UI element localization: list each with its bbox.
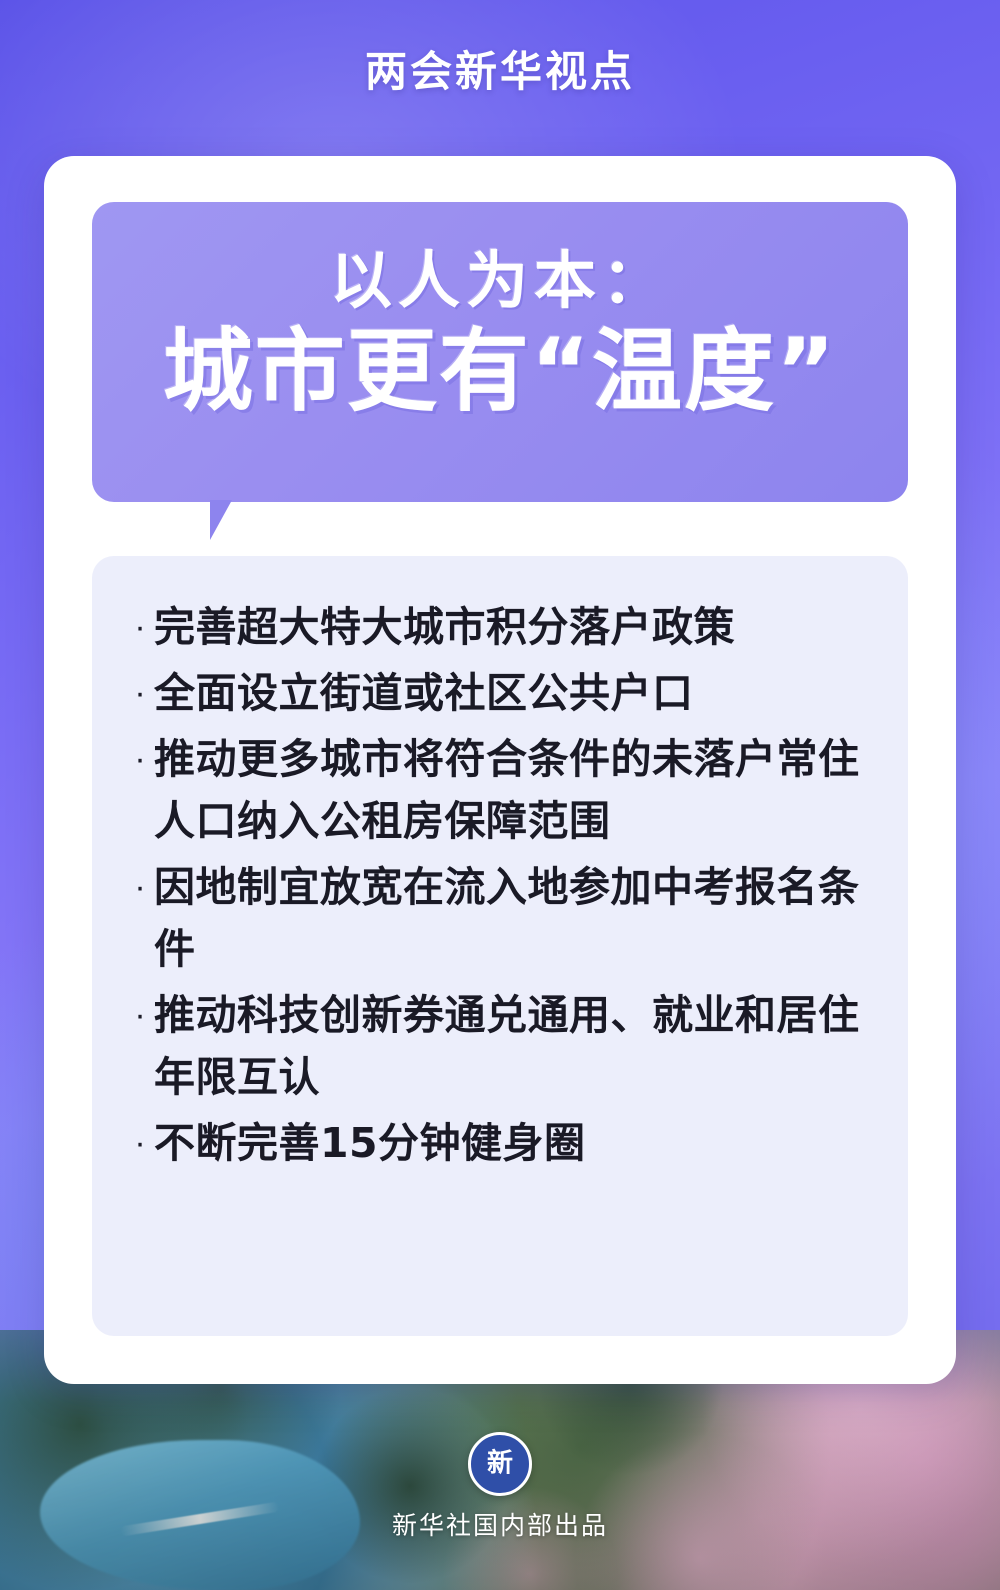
footer-credit: 新华社国内部出品 xyxy=(0,1506,1000,1542)
headline-line-2: 城市更有“温度” xyxy=(92,320,908,424)
bullet-marker-icon: · xyxy=(126,662,154,724)
headline-bubble-tail xyxy=(210,500,262,540)
content-card: 以人为本： 城市更有“温度” · 完善超大特大城市积分落户政策 · 全面设立街道… xyxy=(44,156,956,1384)
bullet-marker-icon: · xyxy=(126,728,154,790)
list-item: · 不断完善15分钟健身圈 xyxy=(126,1112,882,1174)
list-item-text: 完善超大特大城市积分落户政策 xyxy=(154,596,882,658)
list-item-text: 全面设立街道或社区公共户口 xyxy=(154,662,882,724)
bullet-list: · 完善超大特大城市积分落户政策 · 全面设立街道或社区公共户口 · 推动更多城… xyxy=(126,596,882,1178)
xinhua-logo-icon: 新 xyxy=(468,1432,532,1496)
headline-bubble: 以人为本： 城市更有“温度” xyxy=(92,202,908,502)
bullet-marker-icon: · xyxy=(126,1112,154,1174)
xinhua-logo-mark: 新 xyxy=(487,1450,513,1476)
list-item-text: 推动科技创新券通兑通用、就业和居住年限互认 xyxy=(154,984,882,1108)
bullet-marker-icon: · xyxy=(126,596,154,658)
list-item: · 因地制宜放宽在流入地参加中考报名条件 xyxy=(126,856,882,980)
list-item: · 推动更多城市将符合条件的未落户常住人口纳入公租房保障范围 xyxy=(126,728,882,852)
footer: 新 新华社国内部出品 xyxy=(0,1432,1000,1542)
list-item: · 推动科技创新券通兑通用、就业和居住年限互认 xyxy=(126,984,882,1108)
page-title: 两会新华视点 xyxy=(0,38,1000,99)
list-item-text: 推动更多城市将符合条件的未落户常住人口纳入公租房保障范围 xyxy=(154,728,882,852)
bullet-marker-icon: · xyxy=(126,856,154,918)
list-item: · 全面设立街道或社区公共户口 xyxy=(126,662,882,724)
bullet-list-panel: · 完善超大特大城市积分落户政策 · 全面设立街道或社区公共户口 · 推动更多城… xyxy=(92,556,908,1336)
list-item-text: 不断完善15分钟健身圈 xyxy=(154,1112,882,1174)
poster-root: 两会新华视点 以人为本： 城市更有“温度” · 完善超大特大城市积分落户政策 ·… xyxy=(0,0,1000,1590)
list-item: · 完善超大特大城市积分落户政策 xyxy=(126,596,882,658)
bullet-marker-icon: · xyxy=(126,984,154,1046)
headline-line-1: 以人为本： xyxy=(92,230,908,320)
list-item-text: 因地制宜放宽在流入地参加中考报名条件 xyxy=(154,856,882,980)
